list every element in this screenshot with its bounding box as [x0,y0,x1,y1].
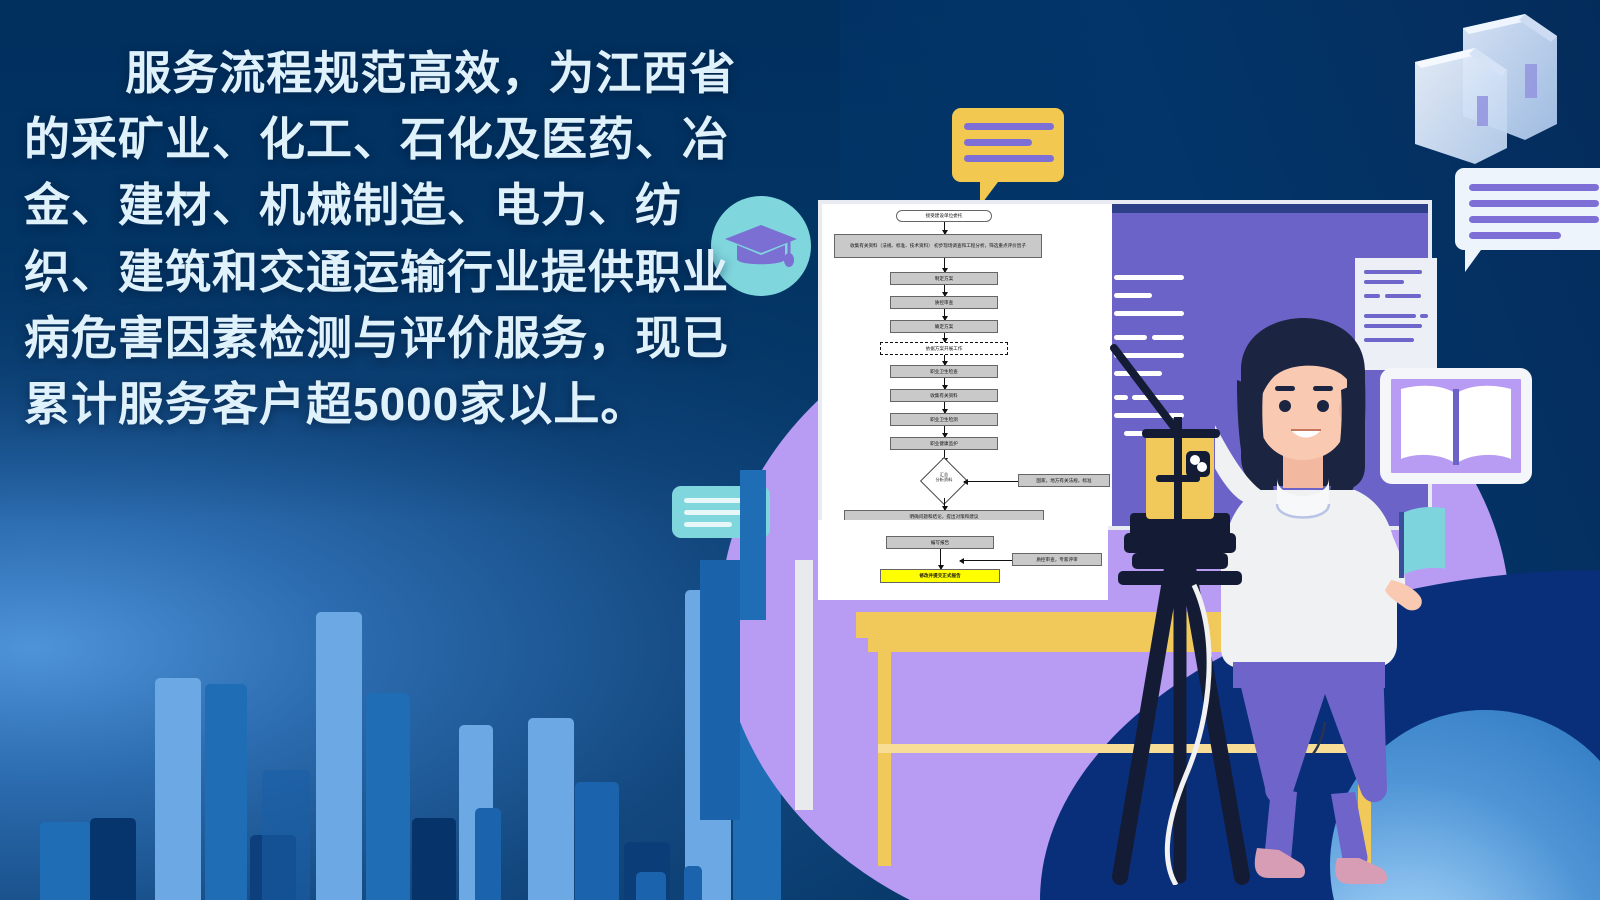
flow-node-confirm-plan: 确定方案 [890,320,998,333]
chart-bar [316,612,362,900]
speech-bubble-icon [952,108,1064,182]
decor-strip [740,470,766,620]
speech-bubble-icon [1455,168,1600,250]
chart-bar [636,872,666,900]
poster-canvas: 服务流程规范高效，为江西省 的采矿业、化工、石化及医药、冶 金、建材、机械制造、… [0,0,1600,900]
flow-node-collect-data: 收集有关资料 [890,389,998,402]
headline-line-3: 金、建材、机械制造、电力、纺 [24,172,764,238]
flow-node-hygiene-test: 职业卫生检测 [890,413,998,426]
desk-leg [878,652,891,866]
chart-bar [412,818,456,900]
flow-node-qc-review-1: 质控审查 [890,296,998,309]
flow-node-write-report: 编写报告 [886,536,994,549]
flow-node-execute: 依据方案开展工作 [880,342,1008,355]
chart-bar [90,818,136,900]
flow-node-start: 接受建设单位委托 [896,210,992,222]
chart-bar [575,782,619,900]
chart-bar [262,770,310,900]
flow-node-hygiene-check: 职业卫生检查 [890,365,998,378]
chart-bar [475,808,501,900]
chart-bar [684,866,702,900]
headline-line-4: 织、建筑和交通运输行业提供职业 [24,239,764,305]
flowchart-tail: 编写报告 质控审查，专家评审 修改并提交正式报告 [818,520,1108,600]
process-flowchart: 接受建设单位委托 收集有关资料（法规、标准、技术资料） 初步现场调查和工程分析，… [822,204,1112,534]
page-title: 服务流程规范高效，为江西省 的采矿业、化工、石化及医药、冶 金、建材、机械制造、… [24,40,764,437]
flow-node-final-report: 修改并提交正式报告 [880,569,1000,583]
chart-bar [528,718,574,900]
projector-icon [1090,415,1270,885]
chart-bar [40,822,92,900]
decor-strip [795,560,813,810]
flow-node-qc-expert: 质控审查，专家评审 [1012,553,1102,566]
books-icon [1385,6,1575,176]
headline-line-2: 的采矿业、化工、石化及医药、冶 [24,106,764,172]
flowchart-sheet: 接受建设单位委托 收集有关资料（法规、标准、技术资料） 初步现场调查和工程分析，… [822,204,1112,526]
headline-line-6: 累计服务客户超5000家以上。 [24,371,764,437]
flow-node-plan: 制定方案 [890,272,998,285]
decor-strip [700,560,740,820]
chart-bar [205,684,247,900]
flow-node-health-monitor: 职业健康监护 [890,437,998,450]
headline-line-1: 服务流程规范高效，为江西省 [125,40,764,106]
chart-bar [366,693,410,900]
headline-line-5: 病危害因素检测与评价服务，现已 [24,305,764,371]
flow-node-collect: 收集有关资料（法规、标准、技术资料） 初步现场调查和工程分析，筛选重点评价因子 [834,234,1042,258]
chart-bar [155,678,201,900]
